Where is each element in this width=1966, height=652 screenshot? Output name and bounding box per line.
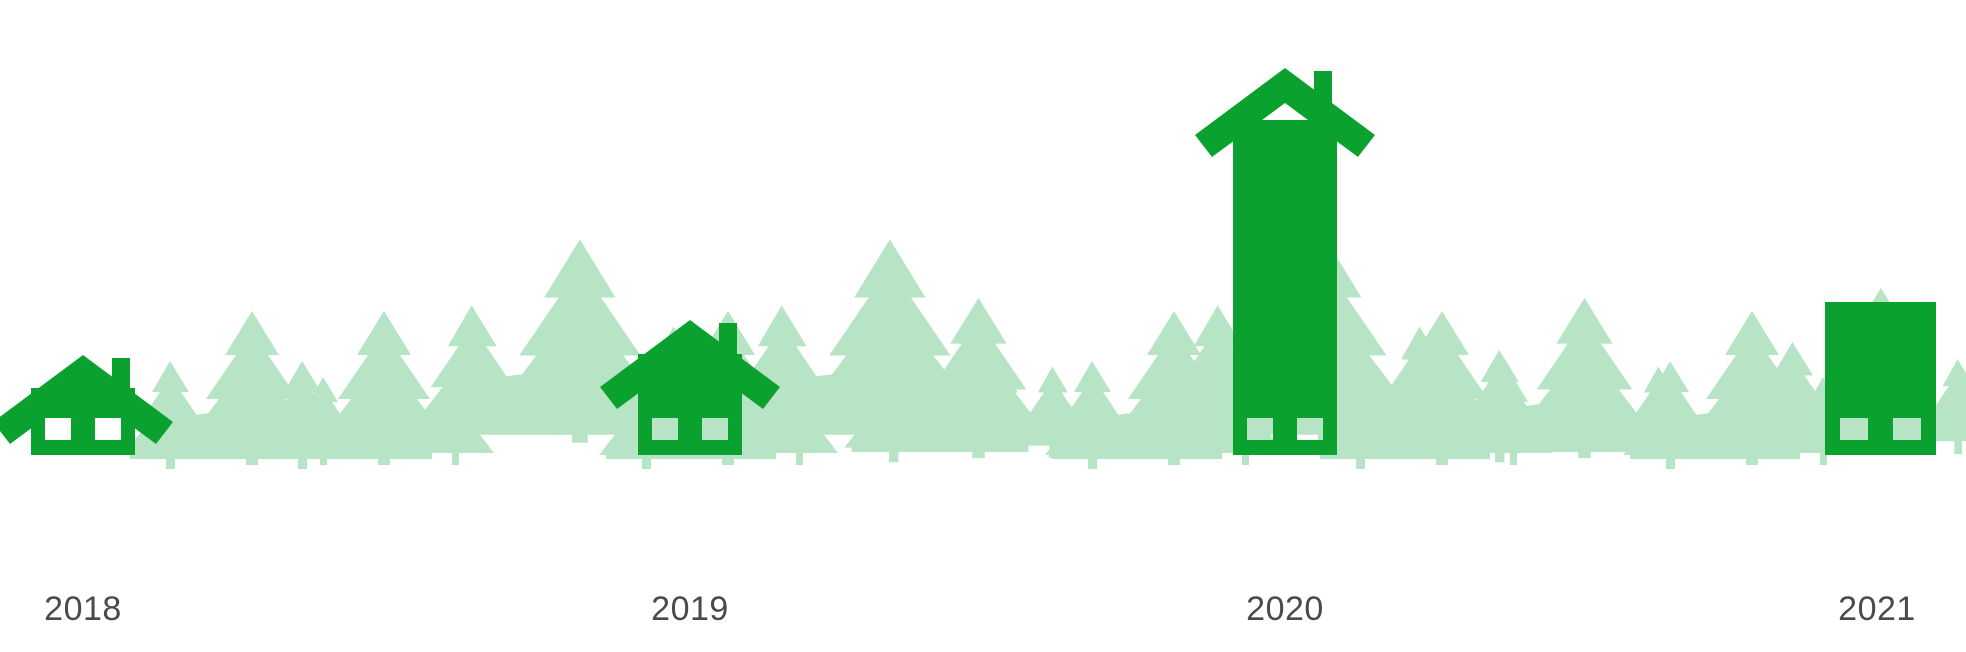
chart-canvas: [0, 0, 1966, 652]
axis-label-2021: 2021: [1838, 592, 1916, 626]
house-chimney: [1314, 71, 1332, 105]
house-body: [1233, 120, 1337, 455]
house-chimney: [112, 358, 130, 392]
forest-background: [123, 239, 1966, 469]
house-chimney: [719, 323, 737, 357]
axis-label-2020: 2020: [1246, 592, 1324, 626]
house-body: [31, 388, 135, 455]
pictorial-bar-chart: 2018 2019 2020 2021: [0, 0, 1966, 652]
axis-label-2018: 2018: [44, 592, 122, 626]
axis-label-2019: 2019: [651, 592, 729, 626]
